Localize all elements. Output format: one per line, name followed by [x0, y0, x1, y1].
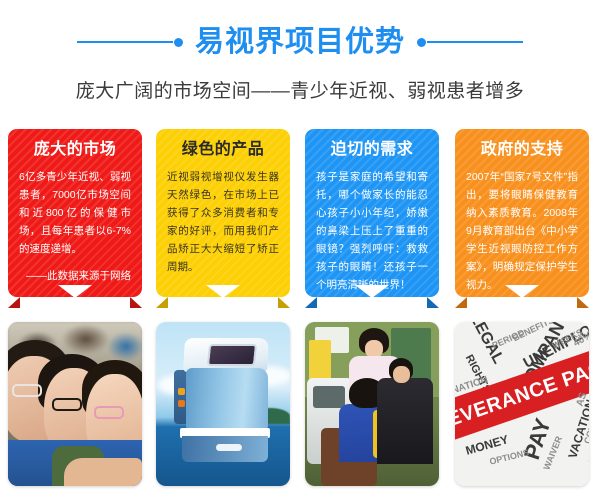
card-wing-left [455, 297, 467, 308]
card-wing-right [427, 297, 439, 308]
card-wing-right [278, 297, 290, 308]
advantage-card-market[interactable]: 庞大的市场 6亿多青少年近视、弱视患者，7000亿市场空间和近800亿的保健市场… [8, 129, 142, 297]
card-wing-right [130, 297, 142, 308]
card-notch-icon [206, 285, 240, 298]
card-notch-icon [58, 285, 92, 298]
advantage-card-green-product[interactable]: 绿色的产品 近视弱视增视仪发生器天然绿色，在市场上已获得了众多消费者和专家的好评… [156, 129, 290, 297]
card-body-text: 6亿多青少年近视、弱视患者，7000亿市场空间和近800亿的保健市场，且每年患者… [19, 168, 131, 258]
title-row: 易视界项目优势 [0, 20, 600, 64]
card-title: 庞大的市场 [19, 141, 131, 159]
card-body-text: 近视弱视增视仪发生器天然绿色，在市场上已获得了众多消费者和专家的好评，而用我们产… [167, 168, 279, 276]
photo-gallery: LEGAL COMPANY UNEMPLOYMENT BENEFITS PERI… [0, 322, 600, 494]
card-body-text: 孩子是家庭的希望和寄托，哪个做家长的能忍心孩子小小年纪，娇嫩的鼻梁上压上了重重的… [316, 168, 428, 294]
photo-vision-device[interactable] [156, 322, 290, 486]
advantage-card-urgent-demand[interactable]: 迫切的需求 孩子是家庭的希望和寄托，哪个做家长的能忍心孩子小小年纪，娇嫩的鼻梁上… [305, 129, 439, 297]
card-wing-left [305, 297, 317, 308]
card-wing-right [577, 297, 589, 308]
page-title: 易视界项目优势 [195, 28, 405, 57]
photo-word-cloud[interactable]: LEGAL COMPANY UNEMPLOYMENT BENEFITS PERI… [455, 322, 589, 486]
card-source-note: ——此数据来源于网络 [19, 268, 131, 285]
card-body-text: 2007年“国家7号文件”指出，要将眼睛保健教育纳入素质教育。2008年9月教育… [466, 168, 578, 294]
line-dot-decoration-icon [77, 38, 183, 47]
advantage-card-government-support[interactable]: 政府的支持 2007年“国家7号文件”指出，要将眼睛保健教育纳入素质教育。200… [455, 129, 589, 297]
card-wing-left [156, 297, 168, 308]
dot-line-decoration-icon [417, 38, 523, 47]
page-subtitle: 庞大广阔的市场空间——青少年近视、弱视患者增多 [0, 76, 600, 103]
card-wing-left [8, 297, 20, 308]
advantage-cards: 庞大的市场 6亿多青少年近视、弱视患者，7000亿市场空间和近800亿的保健市场… [0, 129, 600, 315]
card-title: 迫切的需求 [316, 141, 428, 159]
card-title: 政府的支持 [466, 141, 578, 159]
photo-students-classroom[interactable] [8, 322, 142, 486]
promo-page: 易视界项目优势 庞大广阔的市场空间——青少年近视、弱视患者增多 庞大的市场 6亿… [0, 0, 600, 504]
page-header: 易视界项目优势 庞大广阔的市场空间——青少年近视、弱视患者增多 [0, 0, 600, 120]
card-title: 绿色的产品 [167, 141, 279, 159]
photo-clinic-exam[interactable] [305, 322, 439, 486]
